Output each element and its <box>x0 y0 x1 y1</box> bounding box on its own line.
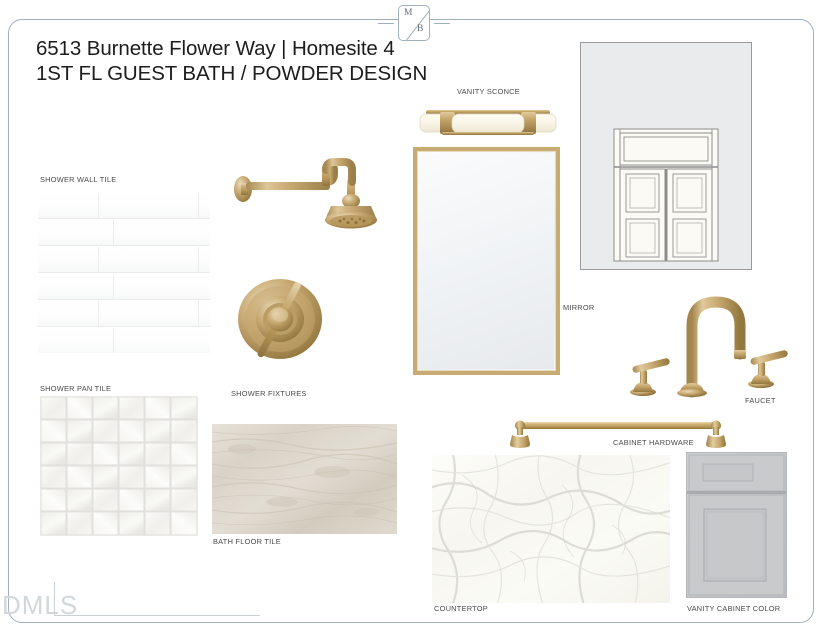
caption-countertop: COUNTERTOP <box>434 604 488 613</box>
drawing-cabinet-elevation <box>580 42 752 270</box>
swatch-shower-pan-tile <box>40 396 198 536</box>
swatch-countertop <box>432 455 670 603</box>
caption-mirror: MIRROR <box>563 303 594 312</box>
title-address: 6513 Burnette Flower Way | Homesite 4 <box>36 36 556 61</box>
caption-vanity-sconce: VANITY SCONCE <box>457 87 520 96</box>
logo-rule-right <box>434 23 450 24</box>
quartz-veining-icon <box>432 455 670 603</box>
image-shower-fixtures <box>222 158 402 383</box>
swatch-vanity-cabinet-color <box>686 452 787 598</box>
travertine-texture-icon <box>212 424 397 534</box>
image-mirror <box>413 147 560 375</box>
linear-sconce-icon <box>412 102 564 142</box>
cabinet-pull-icon <box>498 412 738 454</box>
logo-rule-left <box>378 23 394 24</box>
page-title: 6513 Burnette Flower Way | Homesite 4 1S… <box>36 36 556 86</box>
widespread-faucet-icon <box>620 280 795 398</box>
shaker-door-icon <box>687 453 786 597</box>
image-faucet <box>620 280 795 398</box>
image-cabinet-hardware <box>498 412 738 454</box>
design-board: M B 6513 Burnette Flower Way | Homesite … <box>0 0 825 637</box>
cabinet-elevation-icon <box>581 43 751 269</box>
logo-letter-b: B <box>417 24 424 34</box>
shower-head-and-valve-icon <box>222 158 402 383</box>
logo-letter-m: M <box>404 8 413 18</box>
swatch-shower-wall-tile <box>38 193 210 353</box>
mosaic-grid-icon <box>40 396 198 536</box>
image-vanity-sconce <box>412 102 564 142</box>
caption-bath-floor-tile: BATH FLOOR TILE <box>213 537 281 546</box>
caption-shower-pan-tile: SHOWER PAN TILE <box>40 384 111 393</box>
caption-shower-fixtures: SHOWER FIXTURES <box>231 389 307 398</box>
caption-shower-wall-tile: SHOWER WALL TILE <box>40 175 116 184</box>
mirror-glass <box>419 153 554 369</box>
watermark-rule-horizontal <box>54 615 260 616</box>
caption-vanity-cabinet-color: VANITY CABINET COLOR <box>687 604 780 613</box>
title-scope: 1ST FL GUEST BATH / POWDER DESIGN <box>36 61 556 86</box>
mb-monogram-logo: M B <box>392 4 436 40</box>
swatch-bath-floor-tile <box>212 424 397 534</box>
watermark-rule-vertical <box>54 582 55 616</box>
